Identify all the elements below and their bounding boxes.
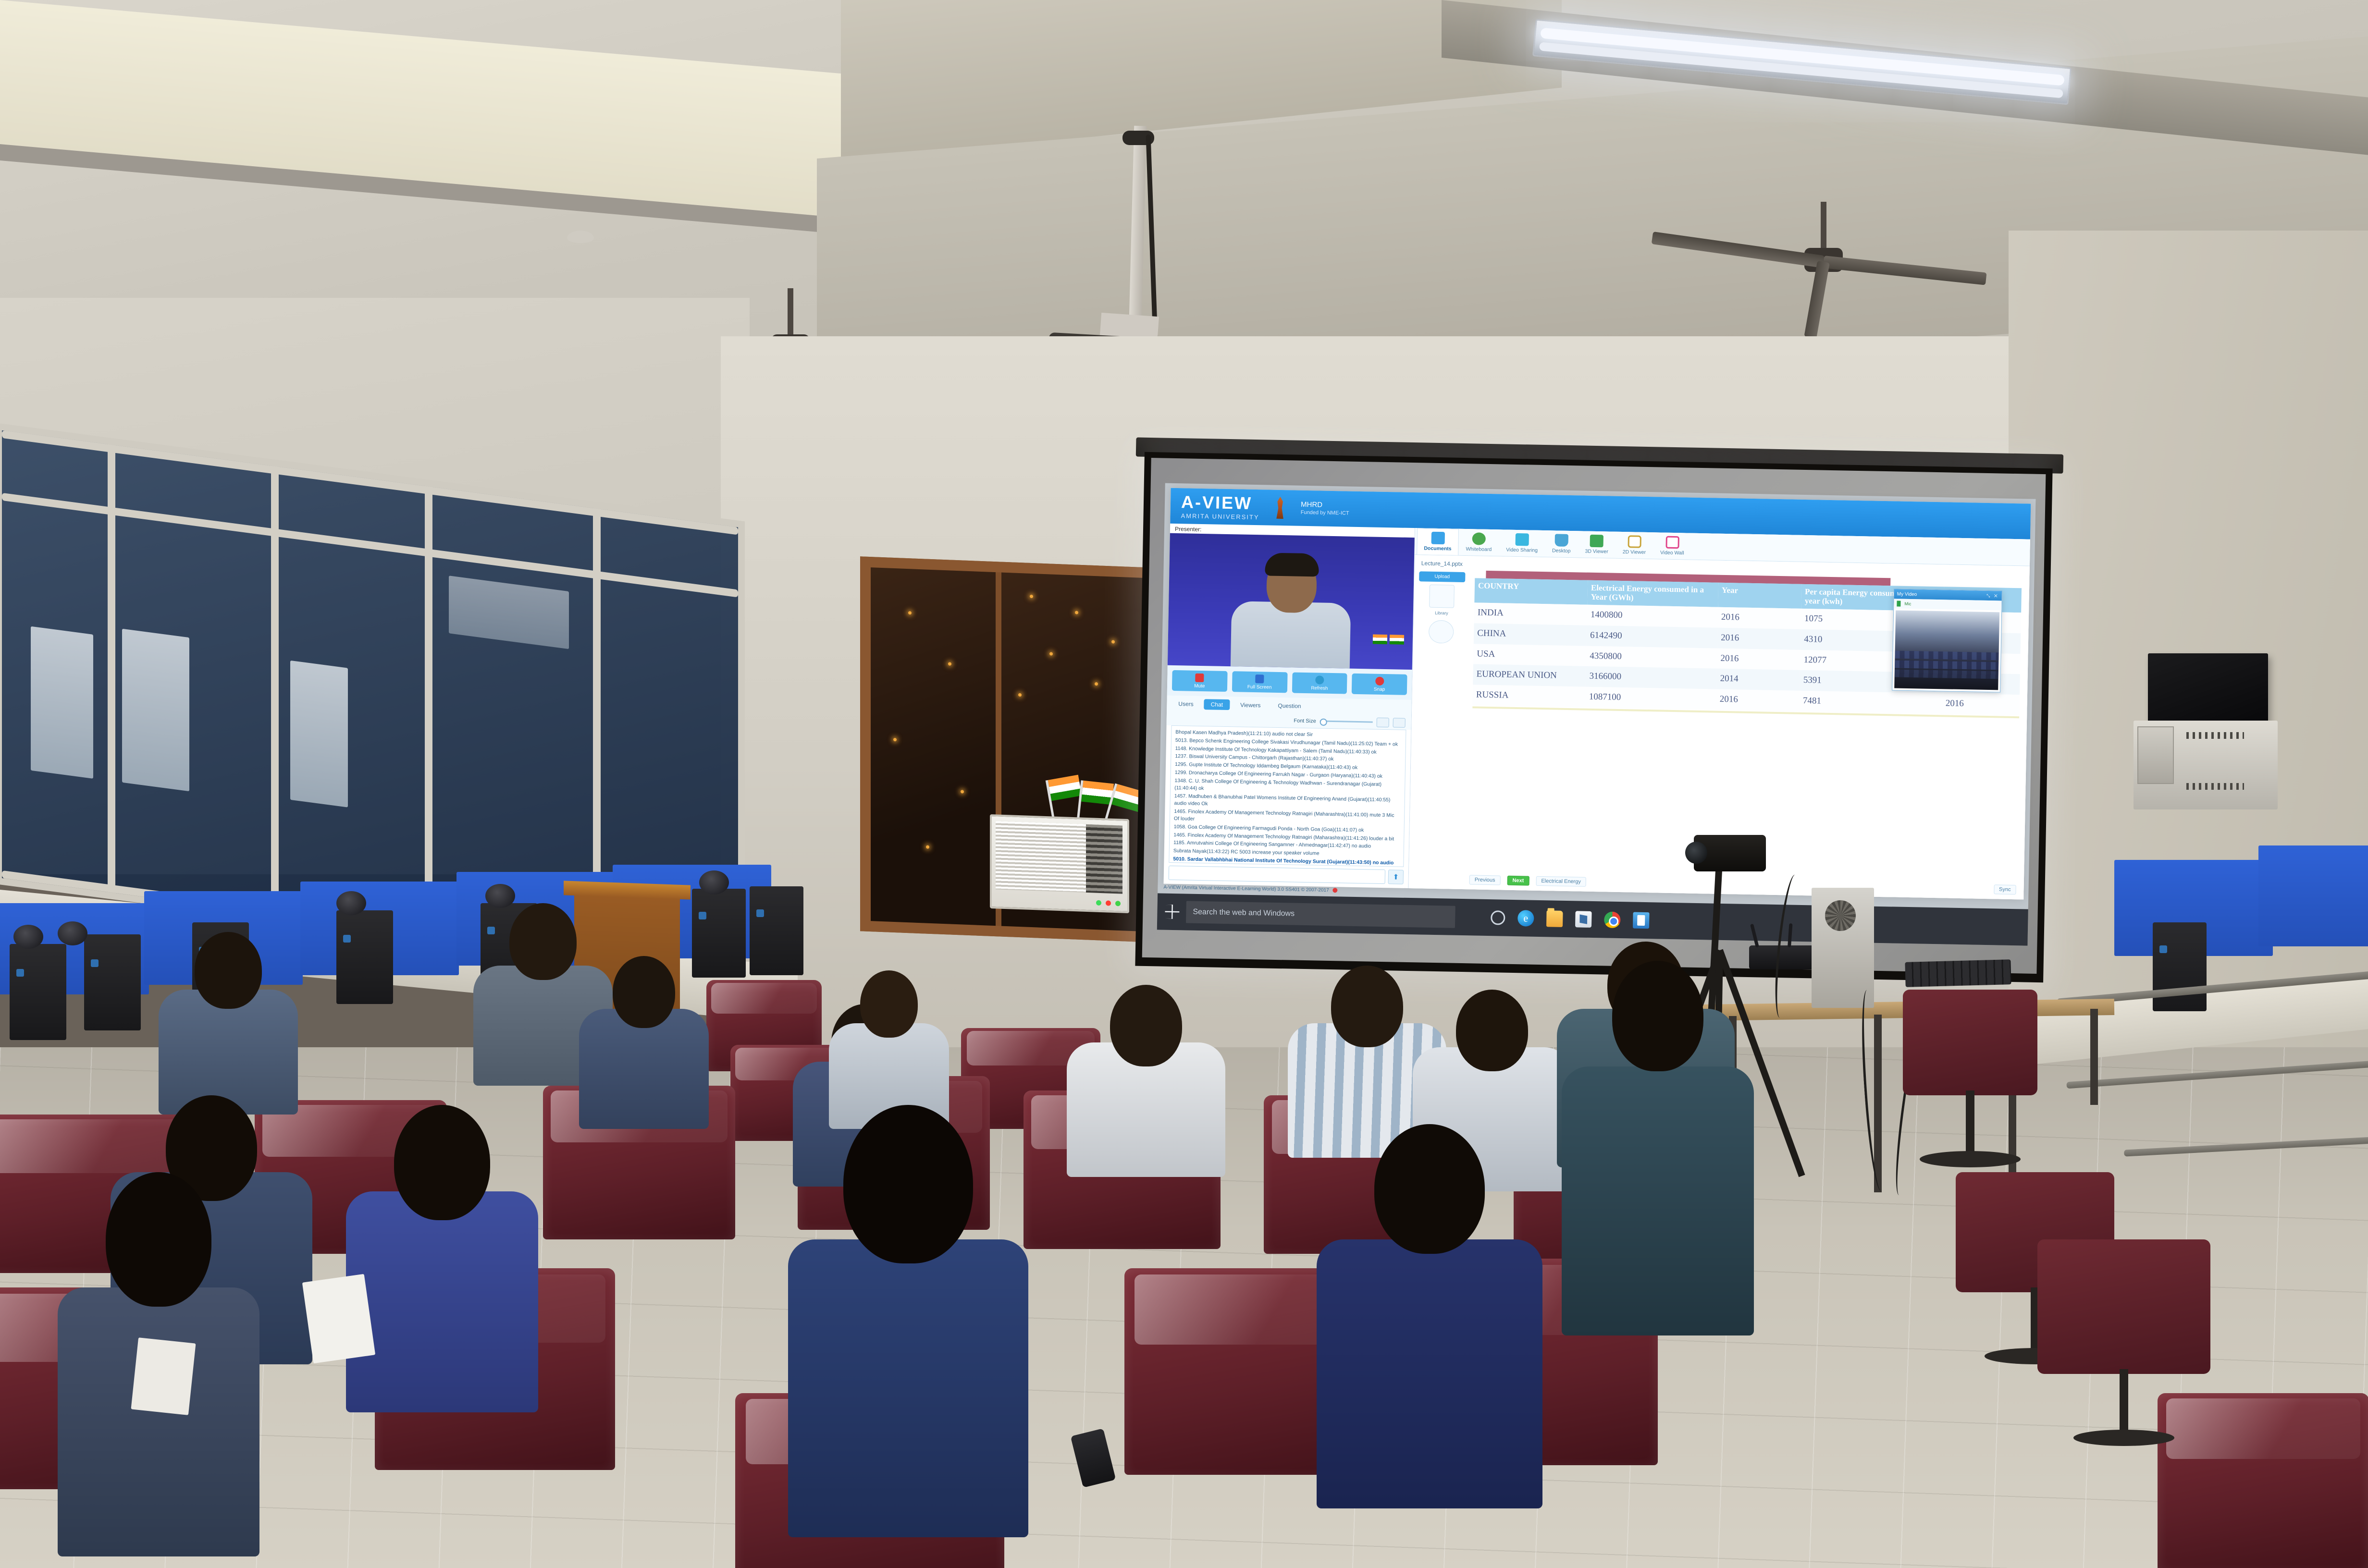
aview-logo-text: A-VIEW bbox=[1181, 493, 1260, 512]
chair-wheels bbox=[1920, 1151, 2021, 1167]
camera-snap-icon bbox=[1375, 676, 1384, 685]
presenter-desk-flags bbox=[1373, 634, 1404, 644]
cell-year-2: 2016 bbox=[1942, 694, 2020, 716]
search-input[interactable]: Search the web and Windows bbox=[1186, 901, 1455, 928]
tab-viewers[interactable]: Viewers bbox=[1233, 699, 1268, 710]
font-size-label: Font Size bbox=[1294, 718, 1316, 724]
cube-3d-icon bbox=[1590, 535, 1603, 548]
audience-person bbox=[1562, 961, 1754, 1335]
desktop-share-icon bbox=[1554, 534, 1568, 547]
cell-country: EUROPEAN UNION bbox=[1473, 664, 1586, 687]
cell-year-1: 2016 bbox=[1718, 607, 1801, 629]
wall-mounted-monitor bbox=[2148, 653, 2268, 725]
chair bbox=[2158, 1393, 2368, 1568]
sponsor-name: MHRD bbox=[1301, 501, 1349, 511]
slide-sync-button[interactable]: Sync bbox=[1994, 884, 2016, 894]
chair-wheels bbox=[2073, 1430, 2174, 1446]
status-text: A-VIEW (Amrita Virtual Interactive E-Lea… bbox=[1163, 884, 1329, 893]
desktop-tower bbox=[336, 910, 393, 1004]
cell-percapita: 7481 bbox=[1800, 691, 1943, 714]
av-pc-tower bbox=[1812, 888, 1874, 1008]
tab-chat[interactable]: Chat bbox=[1204, 699, 1230, 710]
tab-documents[interactable]: Documents bbox=[1417, 528, 1459, 555]
office-chair bbox=[2037, 1239, 2210, 1374]
slide-name-label: Electrical Energy bbox=[1536, 876, 1586, 887]
font-decrease-button[interactable] bbox=[1377, 717, 1389, 727]
cell-energy: 1087100 bbox=[1585, 687, 1716, 710]
projected-desktop: A-VIEW AMRITA UNIVERSITY MHRD Funded by … bbox=[1157, 483, 2036, 946]
column-header-country: COUNTRY bbox=[1474, 578, 1588, 604]
cell-country: RUSSIA bbox=[1472, 685, 1586, 708]
ac-grille bbox=[996, 821, 1087, 893]
audience-person bbox=[1317, 1124, 1542, 1508]
documents-icon bbox=[1431, 532, 1444, 545]
aview-icon[interactable] bbox=[1633, 912, 1650, 929]
upload-button[interactable]: Upload bbox=[1419, 571, 1465, 582]
desktop-tower bbox=[2153, 922, 2207, 1011]
refresh-icon bbox=[1315, 675, 1324, 684]
video-control-fullscreen[interactable]: Full Screen bbox=[1232, 671, 1288, 693]
indian-flag-icon bbox=[1081, 781, 1114, 805]
lab-cubicle bbox=[2258, 845, 2368, 946]
cell-energy: 1400800 bbox=[1587, 604, 1718, 627]
person-torso bbox=[788, 1239, 1028, 1537]
slide-prev-button[interactable]: Previous bbox=[1469, 875, 1501, 885]
person-torso bbox=[1317, 1239, 1542, 1508]
person-head bbox=[1110, 985, 1182, 1066]
tab-video-wall[interactable]: Video Wall bbox=[1653, 532, 1692, 559]
person-torso bbox=[1562, 1066, 1754, 1335]
sponsor-funding: Funded by NME-ICT bbox=[1301, 509, 1349, 517]
glass-mullion bbox=[425, 486, 432, 935]
person-torso bbox=[58, 1287, 259, 1556]
viewer-2d-icon bbox=[1628, 535, 1641, 548]
camcorder-lens-icon bbox=[1685, 842, 1707, 864]
wall-poster bbox=[290, 661, 348, 808]
person-head bbox=[1456, 990, 1528, 1071]
cell-year-1: 2016 bbox=[1717, 627, 1801, 649]
rack-vent bbox=[2186, 783, 2244, 790]
start-button[interactable] bbox=[1165, 905, 1180, 919]
chair-base bbox=[2120, 1369, 2128, 1432]
glass-mullion bbox=[108, 444, 115, 893]
person-head bbox=[843, 1105, 973, 1263]
screen-frame: A-VIEW AMRITA UNIVERSITY MHRD Funded by … bbox=[1135, 452, 2052, 982]
video-control-snap[interactable]: Snap bbox=[1352, 674, 1407, 695]
my-video-window[interactable]: My Video ⤡ ✕ Mic bbox=[1892, 588, 2002, 692]
audience-person bbox=[346, 1105, 538, 1412]
webcam-icon bbox=[13, 925, 43, 949]
taskbar-icons bbox=[1491, 909, 1650, 929]
indian-flag-icon bbox=[1373, 634, 1387, 644]
person-torso bbox=[346, 1191, 538, 1412]
desktop-tower bbox=[10, 944, 66, 1040]
aview-application-window: A-VIEW AMRITA UNIVERSITY MHRD Funded by … bbox=[1163, 488, 2031, 900]
notepad bbox=[131, 1337, 196, 1415]
rack-vent bbox=[2186, 732, 2244, 739]
my-video-toolbar: Mic bbox=[1894, 599, 2001, 610]
person-head bbox=[1374, 1124, 1485, 1254]
fan-rod bbox=[788, 288, 793, 336]
fan-rod bbox=[1821, 202, 1826, 250]
person-head bbox=[394, 1105, 490, 1220]
desktop-tower bbox=[84, 934, 141, 1030]
person-head bbox=[195, 932, 262, 1009]
webcam-icon bbox=[699, 870, 729, 894]
tripod-camcorder bbox=[1694, 835, 1766, 871]
chrome-icon[interactable] bbox=[1604, 911, 1621, 928]
cell-country: INDIA bbox=[1474, 602, 1588, 625]
audience-person bbox=[788, 1105, 1028, 1537]
notepad bbox=[302, 1274, 375, 1363]
tab-question[interactable]: Question bbox=[1271, 700, 1307, 711]
cell-year-1: 2016 bbox=[1716, 689, 1800, 711]
window-air-conditioner bbox=[990, 814, 1129, 913]
fullscreen-icon bbox=[1255, 674, 1264, 683]
chat-message-log[interactable]: Bhopal Kasen Madhya Pradesh)(11:21:10) a… bbox=[1169, 725, 1406, 867]
table-leg bbox=[2090, 1009, 2098, 1105]
video-control-refresh[interactable]: Refresh bbox=[1292, 672, 1347, 694]
my-video-title: My Video bbox=[1897, 591, 1917, 597]
video-control-bar: Mute Full Screen Refresh bbox=[1167, 665, 1412, 699]
ac-indicator-leds bbox=[1096, 900, 1121, 906]
classroom-scene: A-VIEW AMRITA UNIVERSITY MHRD Funded by … bbox=[0, 0, 2368, 1568]
font-size-slider[interactable] bbox=[1320, 721, 1373, 723]
font-increase-button[interactable] bbox=[1393, 718, 1406, 727]
presenter-hair bbox=[1265, 552, 1319, 576]
tab-users[interactable]: Users bbox=[1172, 698, 1200, 710]
presenter-video-feed[interactable] bbox=[1168, 533, 1415, 670]
wall-poster bbox=[31, 626, 93, 779]
rack-door bbox=[2137, 726, 2174, 784]
indian-flag-icon bbox=[1390, 635, 1404, 645]
microphone-icon[interactable] bbox=[1897, 601, 1900, 607]
recording-indicator-icon bbox=[1333, 888, 1338, 893]
video-wall-icon bbox=[1665, 536, 1679, 549]
projection-screen: A-VIEW AMRITA UNIVERSITY MHRD Funded by … bbox=[1135, 452, 2052, 982]
desktop-tower bbox=[750, 886, 803, 975]
cell-energy: 4350800 bbox=[1586, 646, 1717, 669]
audience-person bbox=[1067, 985, 1225, 1177]
av-keyboard bbox=[1905, 959, 2011, 987]
aview-left-panel: Presenter: bbox=[1163, 524, 1415, 888]
tab-video-sharing[interactable]: Video Sharing bbox=[1499, 529, 1545, 557]
smoke-detector bbox=[567, 231, 594, 243]
wall-network-rack bbox=[2134, 721, 2278, 809]
library-label: Library bbox=[1418, 610, 1465, 616]
screen-surface: A-VIEW AMRITA UNIVERSITY MHRD Funded by … bbox=[1142, 458, 2046, 974]
audience-person bbox=[577, 956, 711, 1129]
my-video-feed bbox=[1894, 610, 1999, 690]
refresh-icon[interactable] bbox=[1429, 620, 1454, 644]
tab-desktop[interactable]: Desktop bbox=[1545, 530, 1579, 557]
document-sidebar: Upload Library bbox=[1418, 571, 1466, 647]
wall-poster bbox=[449, 576, 569, 649]
aview-body: Presenter: bbox=[1163, 524, 2030, 900]
cell-country: USA bbox=[1473, 644, 1587, 666]
whiteboard-icon bbox=[1472, 532, 1486, 545]
my-video-mic-label: Mic bbox=[1904, 601, 1911, 606]
video-sharing-icon bbox=[1515, 533, 1529, 546]
glass-mullion bbox=[271, 466, 279, 915]
person-head bbox=[860, 970, 918, 1038]
search-placeholder: Search the web and Windows bbox=[1193, 908, 1295, 919]
india-emblem-icon bbox=[1274, 497, 1287, 519]
tab-3d-viewer[interactable]: 3D Viewer bbox=[1578, 531, 1616, 558]
edge-icon[interactable] bbox=[1517, 910, 1534, 927]
cell-energy: 3166000 bbox=[1586, 666, 1717, 689]
cell-energy: 6142490 bbox=[1587, 625, 1718, 648]
my-video-window-buttons[interactable]: ⤡ ✕ bbox=[1986, 593, 1999, 598]
aview-brand: A-VIEW AMRITA UNIVERSITY bbox=[1181, 493, 1259, 520]
person-head bbox=[613, 956, 675, 1028]
column-header-energy: Electrical Energy consumed in a Year (GW… bbox=[1587, 580, 1718, 607]
column-header-year-1: Year bbox=[1718, 583, 1801, 609]
sponsor-block: MHRD Funded by NME-ICT bbox=[1301, 501, 1349, 517]
pc-fan-icon bbox=[1825, 900, 1856, 931]
webcam-icon bbox=[336, 891, 366, 915]
slide-next-button[interactable]: Next bbox=[1507, 876, 1529, 886]
chair-base bbox=[1966, 1090, 1974, 1153]
person-head bbox=[509, 903, 577, 980]
file-explorer-icon[interactable] bbox=[1546, 910, 1563, 927]
person-head bbox=[106, 1172, 211, 1307]
audience-person bbox=[159, 932, 298, 1115]
tab-2d-viewer[interactable]: 2D Viewer bbox=[1616, 532, 1653, 559]
office-chair bbox=[1903, 990, 2037, 1095]
library-icon[interactable] bbox=[1429, 585, 1455, 608]
chat-send-button[interactable] bbox=[1388, 870, 1404, 884]
tab-whiteboard[interactable]: Whiteboard bbox=[1458, 529, 1499, 556]
cell-year-1: 2016 bbox=[1717, 648, 1801, 670]
person-head bbox=[1331, 966, 1403, 1047]
cell-country: CHINA bbox=[1474, 623, 1587, 646]
video-control-mute[interactable]: Mute bbox=[1172, 670, 1228, 692]
cell-year-1: 2014 bbox=[1716, 669, 1800, 691]
mute-icon bbox=[1196, 674, 1204, 682]
presenter-figure bbox=[1230, 552, 1352, 669]
ac-fan-vent bbox=[1086, 824, 1122, 894]
window-pane-left bbox=[871, 567, 996, 926]
chat-input[interactable] bbox=[1169, 866, 1385, 884]
wall-poster bbox=[122, 629, 189, 791]
cortana-icon[interactable] bbox=[1491, 910, 1505, 925]
webcam-icon bbox=[58, 921, 87, 945]
person-head bbox=[1612, 961, 1703, 1071]
aview-logo-subtitle: AMRITA UNIVERSITY bbox=[1181, 513, 1259, 520]
store-icon[interactable] bbox=[1575, 911, 1592, 928]
